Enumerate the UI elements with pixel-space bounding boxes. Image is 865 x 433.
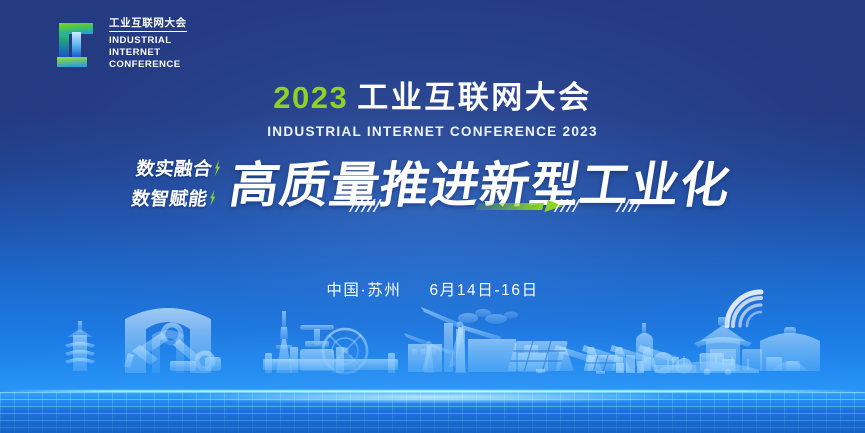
- factory-smokestack-icon: [408, 309, 548, 372]
- event-title-main: 2023 工业互联网大会: [0, 72, 865, 117]
- logo-en-line-1: INDUSTRIAL: [109, 35, 187, 47]
- logo-name-en: INDUSTRIAL INTERNET CONFERENCE: [109, 35, 187, 72]
- event-title-en: INDUSTRIAL INTERNET CONFERENCE 2023: [0, 124, 865, 139]
- bridge-icon: [660, 359, 772, 373]
- event-title-block: 2023 工业互联网大会 INDUSTRIAL INTERNET CONFERE…: [0, 72, 865, 139]
- suzhou-pagoda-icon: [65, 321, 95, 371]
- solar-panel-icon: [507, 341, 618, 374]
- bridge-icon: [655, 354, 759, 373]
- tv-tower-icon: [273, 311, 295, 373]
- logo-name-cn: 工业互联网大会: [109, 18, 187, 32]
- lightning-bolt-icon: [208, 189, 219, 206]
- slogan-secondary: 数实融合 数智赋能: [130, 155, 225, 211]
- logo-en-line-2: INTERNET: [109, 47, 187, 59]
- logistics-truck-icon: [700, 349, 800, 375]
- lightning-bolt-icon: [213, 159, 224, 176]
- slogan-secondary-line-2-text: 数智赋能: [130, 185, 210, 211]
- slogan-secondary-line-1-text: 数实融合: [135, 155, 215, 181]
- conference-logo: 工业互联网大会 INDUSTRIAL INTERNET CONFERENCE: [52, 18, 187, 71]
- bridge-icon: [660, 360, 770, 373]
- wind-turbine-icon: [404, 307, 502, 373]
- oil-pumpjack-icon: [554, 345, 679, 371]
- event-dateline: 中国·苏州 6月14日-16日: [0, 278, 865, 300]
- logo-text-block: 工业互联网大会 INDUSTRIAL INTERNET CONFERENCE: [109, 18, 187, 71]
- gate-of-the-orient-icon: [125, 308, 211, 373]
- storage-tank-icon: [636, 323, 696, 374]
- conference-banner: 工业互联网大会 INDUSTRIAL INTERNET CONFERENCE 2…: [0, 0, 865, 433]
- gong-industrial-logo-mark-icon: [52, 19, 100, 71]
- event-year: 2023: [273, 80, 348, 116]
- pipeline-valve-icon: [263, 325, 398, 373]
- exhibition-hall-icon: [760, 327, 820, 371]
- distant-buildings-icon: [616, 355, 644, 373]
- perspective-grid-floor: [0, 392, 865, 433]
- event-location: 中国·苏州: [326, 278, 401, 300]
- slogan-secondary-line-1: 数实融合: [135, 155, 225, 181]
- green-arrow-icon: [474, 200, 564, 213]
- ferris-wheel-icon: [323, 329, 367, 373]
- horizon-glow-line: [0, 390, 865, 393]
- robot-arm-icon: [124, 325, 221, 371]
- slogan-primary: 高质量推进新型工业化: [225, 146, 736, 217]
- slogan-secondary-line-2: 数智赋能: [130, 185, 220, 211]
- logo-en-line-3: CONFERENCE: [109, 59, 187, 71]
- event-dates: 6月14日-16日: [430, 278, 539, 300]
- slogan-block: 数实融合 数智赋能 高质量推进新型工业化: [0, 146, 865, 217]
- event-title-cn: 工业互联网大会: [357, 72, 592, 117]
